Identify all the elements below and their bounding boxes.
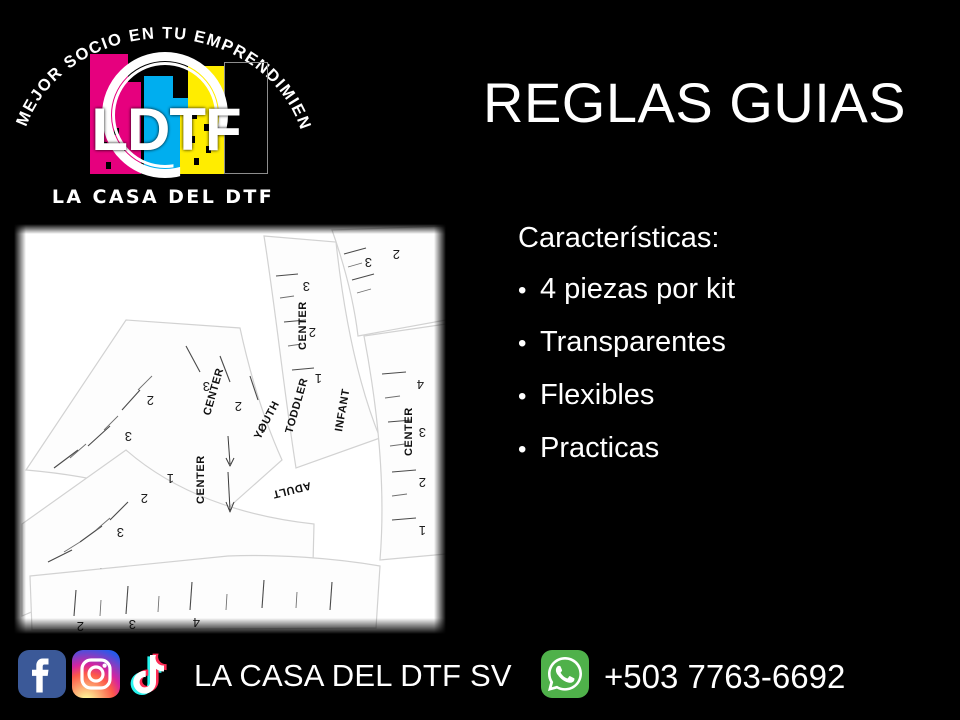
whatsapp-icon[interactable]: [541, 650, 589, 698]
svg-text:1: 1: [167, 471, 174, 486]
svg-text:2: 2: [419, 475, 426, 490]
feature-label: Transparentes: [540, 326, 726, 359]
svg-text:2: 2: [141, 491, 148, 506]
svg-text:CENTER: CENTER: [403, 407, 415, 456]
bullet-icon: •: [518, 279, 540, 303]
page-title: REGLAS GUIAS: [483, 70, 906, 135]
svg-text:3: 3: [419, 425, 426, 440]
feature-label: 4 piezas por kit: [540, 273, 735, 306]
svg-text:2: 2: [309, 325, 316, 340]
instagram-icon[interactable]: [72, 650, 120, 698]
svg-text:2: 2: [77, 619, 84, 634]
facebook-glyph: [18, 650, 66, 698]
svg-text:CENTER: CENTER: [195, 455, 207, 504]
footer-brand-text: LA CASA DEL DTF SV: [194, 658, 512, 694]
brand-logo: EL MEJOR SOCIO EN TU EMPRENDIMIENTO LDTF…: [8, 8, 318, 220]
promo-poster: EL MEJOR SOCIO EN TU EMPRENDIMIENTO LDTF…: [0, 0, 960, 720]
footer-bar: LA CASA DEL DTF SV +503 7763-6692: [0, 638, 960, 720]
svg-text:3: 3: [125, 429, 132, 444]
feature-item: • Transparentes: [518, 326, 938, 379]
svg-text:CENTER: CENTER: [297, 301, 309, 350]
product-photo: 3 2 4 3 2 3 2 1 CENTER: [14, 224, 446, 634]
bullet-icon: •: [518, 438, 540, 462]
svg-text:3: 3: [303, 279, 310, 294]
tiktok-icon[interactable]: [128, 650, 176, 698]
logo-wordmark: LDTF: [56, 100, 276, 160]
feature-item: • 4 piezas por kit: [518, 273, 938, 326]
svg-text:1: 1: [315, 371, 322, 386]
facebook-icon[interactable]: [18, 650, 66, 698]
svg-text:4: 4: [417, 377, 424, 392]
logo-tagline: LA CASA DEL DTF: [8, 186, 318, 208]
features-heading: Características:: [518, 222, 938, 255]
svg-text:4: 4: [193, 615, 200, 630]
features-list: Características: • 4 piezas por kit • Tr…: [518, 222, 938, 485]
product-photo-illustration: 3 2 4 3 2 3 2 1 CENTER: [14, 224, 446, 634]
svg-text:2: 2: [235, 399, 242, 414]
svg-text:3: 3: [129, 617, 136, 632]
svg-text:3: 3: [117, 525, 124, 540]
svg-text:1: 1: [419, 523, 426, 538]
feature-label: Practicas: [540, 432, 659, 465]
tiktok-glyph: [128, 650, 176, 698]
svg-text:2: 2: [393, 247, 400, 262]
feature-item: • Flexibles: [518, 379, 938, 432]
instagram-glyph: [72, 650, 120, 698]
feature-item: • Practicas: [518, 432, 938, 485]
feature-label: Flexibles: [540, 379, 654, 412]
svg-text:2: 2: [147, 393, 154, 408]
bullet-icon: •: [518, 332, 540, 356]
svg-text:3: 3: [365, 255, 372, 270]
bullet-icon: •: [518, 385, 540, 409]
whatsapp-glyph: [541, 650, 589, 698]
footer-phone-text: +503 7763-6692: [604, 658, 845, 696]
